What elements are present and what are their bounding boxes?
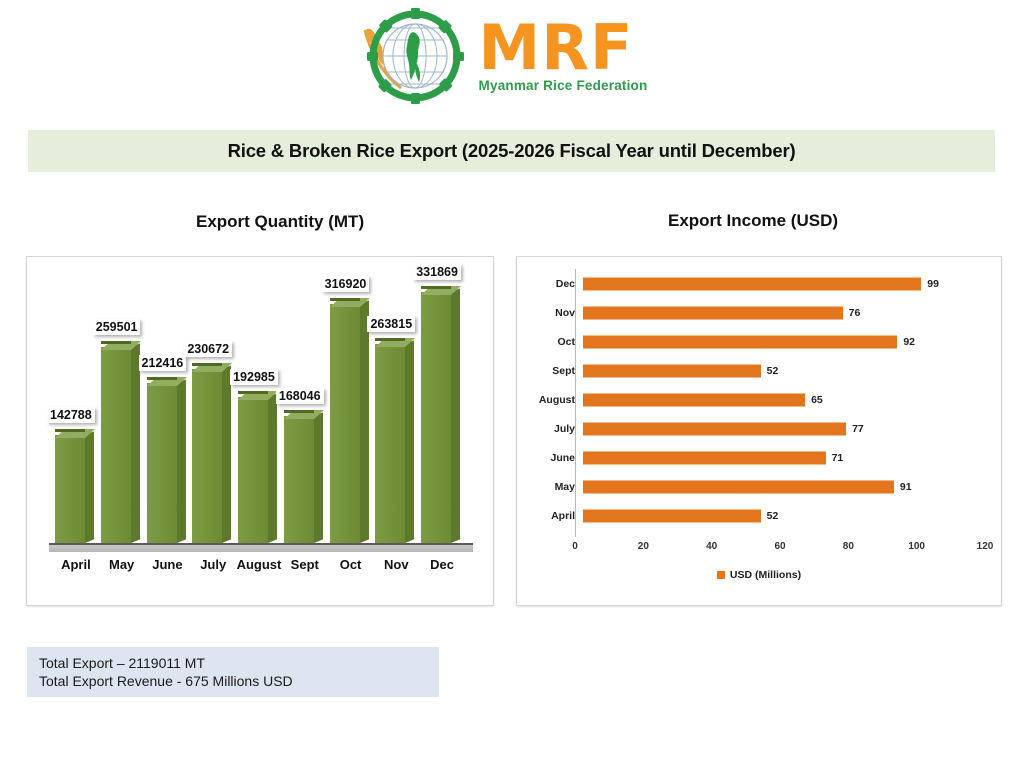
export-quantity-heading: Export Quantity (MT): [196, 212, 364, 232]
bar-value-label: 71: [832, 452, 844, 464]
bar-chart-row: Nov76: [517, 298, 1001, 327]
bar-category-label: July: [517, 423, 583, 435]
column-value-label: 230672: [184, 341, 232, 357]
bar-value-label: 76: [849, 307, 861, 319]
bar-category-label: Nov: [517, 307, 583, 319]
bar-value-label: 52: [767, 365, 779, 377]
bar-axis-tick: 100: [908, 541, 925, 552]
bar-track: 99: [583, 269, 1001, 298]
page-title-banner: Rice & Broken Rice Export (2025-2026 Fis…: [28, 130, 995, 172]
bar-axis-tick: 60: [774, 541, 785, 552]
total-export-revenue-line: Total Export Revenue - 675 Millions USD: [39, 673, 439, 689]
column-value-label: 212416: [139, 355, 187, 371]
column-value-label: 263815: [367, 316, 415, 332]
bar-value-label: 65: [811, 394, 823, 406]
bar-chart-row: Dec99: [517, 269, 1001, 298]
bar-chart-legend: USD (Millions): [517, 569, 1001, 581]
bar-fill: [583, 480, 894, 493]
bar-track: 52: [583, 501, 1001, 530]
logo-subtitle: Myanmar Rice Federation: [479, 78, 648, 93]
export-quantity-chart-panel: 1427882595012124162306721929851680463169…: [26, 256, 494, 606]
bar-category-label: August: [517, 394, 583, 406]
bar-fill: [583, 364, 761, 377]
bar-category-label: May: [517, 481, 583, 493]
bar-category-label: June: [517, 452, 583, 464]
total-export-line: Total Export – 2119011 MT: [39, 655, 439, 671]
legend-swatch-icon: [717, 571, 725, 579]
bar-chart-row: August65: [517, 385, 1001, 414]
page-title: Rice & Broken Rice Export (2025-2026 Fis…: [228, 140, 796, 162]
column-bar: 192985: [236, 271, 282, 543]
column-bar: 259501: [99, 271, 145, 543]
bar-track: 91: [583, 472, 1001, 501]
bar-fill: [583, 306, 843, 319]
bar-chart-row: April52: [517, 501, 1001, 530]
bar-fill: [583, 451, 826, 464]
column-bar: 230672: [190, 271, 236, 543]
column-value-label: 168046: [276, 388, 324, 404]
bar-track: 52: [583, 356, 1001, 385]
mrf-globe-wheat-gear-icon: [357, 6, 469, 106]
bar-axis-tick: 40: [706, 541, 717, 552]
bar-category-label: Dec: [517, 278, 583, 290]
bar-track: 76: [583, 298, 1001, 327]
bar-track: 77: [583, 414, 1001, 443]
bar-category-label: April: [517, 510, 583, 522]
column-value-label: 142788: [47, 407, 95, 423]
column-bar: 263815: [373, 271, 419, 543]
bar-category-label: Oct: [517, 336, 583, 348]
column-bar: 142788: [53, 271, 99, 543]
bar-track: 92: [583, 327, 1001, 356]
column-value-label: 259501: [93, 319, 141, 335]
bar-fill: [583, 422, 846, 435]
bar-track: 71: [583, 443, 1001, 472]
bar-fill: [583, 335, 897, 348]
column-bar: 168046: [282, 271, 328, 543]
bar-chart-row: July77: [517, 414, 1001, 443]
column-bar: 331869: [419, 271, 465, 543]
bar-chart-x-axis: 020406080100120: [575, 541, 985, 557]
column-category-label: Dec: [413, 557, 471, 572]
column-value-label: 192985: [230, 369, 278, 385]
bar-chart-row: June71: [517, 443, 1001, 472]
logo-acronym: MRF: [479, 19, 634, 76]
bar-fill: [583, 509, 761, 522]
totals-summary-box: Total Export – 2119011 MT Total Export R…: [27, 647, 439, 697]
bar-value-label: 52: [767, 510, 779, 522]
column-value-label: 331869: [413, 264, 461, 280]
mrf-logo: MRF Myanmar Rice Federation: [322, 2, 682, 110]
export-income-chart-panel: Dec99Nov76Oct92Sept52August65July77June7…: [516, 256, 1002, 606]
bar-value-label: 99: [927, 278, 939, 290]
bar-category-label: Sept: [517, 365, 583, 377]
bar-track: 65: [583, 385, 1001, 414]
export-income-heading: Export Income (USD): [668, 211, 838, 231]
bar-axis-tick: 120: [977, 541, 994, 552]
bar-fill: [583, 393, 805, 406]
bar-chart-row: May91: [517, 472, 1001, 501]
column-chart-baseline: [49, 543, 473, 552]
column-chart-plot-area: 1427882595012124162306721929851680463169…: [53, 271, 465, 543]
column-bar: 316920: [328, 271, 374, 543]
bar-fill: [583, 277, 921, 290]
bar-value-label: 77: [852, 423, 864, 435]
bar-value-label: 92: [903, 336, 915, 348]
bar-chart-plot-area: Dec99Nov76Oct92Sept52August65July77June7…: [517, 269, 1001, 549]
column-bar: 212416: [145, 271, 191, 543]
bar-axis-tick: 0: [572, 541, 578, 552]
bar-chart-row: Sept52: [517, 356, 1001, 385]
column-value-label: 316920: [322, 276, 370, 292]
bar-axis-tick: 20: [638, 541, 649, 552]
legend-label: USD (Millions): [730, 569, 801, 581]
bar-axis-tick: 80: [843, 541, 854, 552]
bar-value-label: 91: [900, 481, 912, 493]
bar-chart-value-axis: [575, 269, 576, 537]
bar-chart-row: Oct92: [517, 327, 1001, 356]
